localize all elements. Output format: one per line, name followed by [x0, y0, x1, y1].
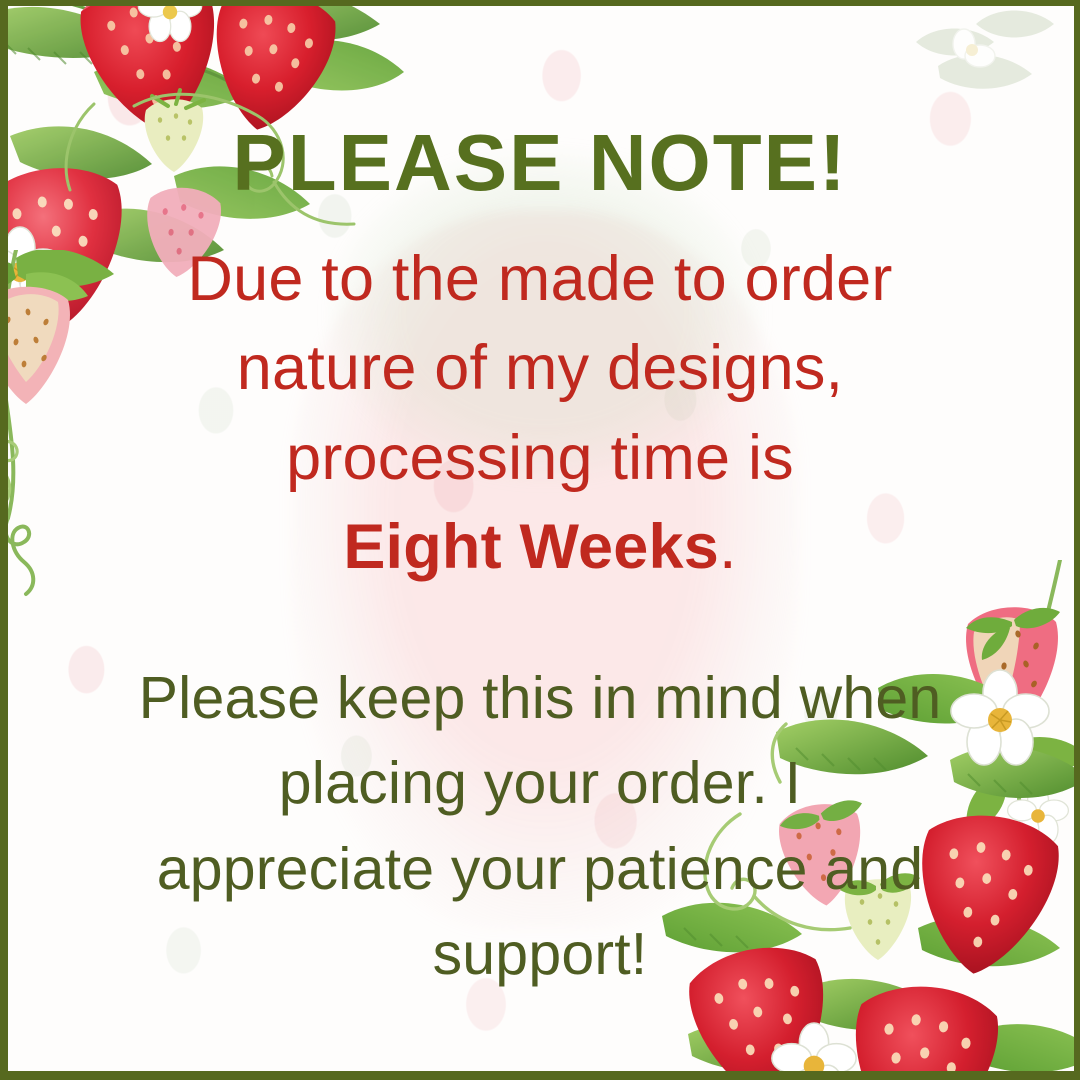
closing-line-4: support!	[40, 912, 1040, 998]
message-content: PLEASE NOTE! Due to the made to order na…	[0, 0, 1080, 1080]
closing-line-1: Please keep this in mind when	[40, 656, 1040, 742]
border-right	[1074, 0, 1080, 1080]
notice-period: .	[719, 512, 737, 582]
page-title: PLEASE NOTE!	[232, 123, 847, 203]
closing-text: Please keep this in mind when placing yo…	[40, 656, 1040, 998]
announcement-card: PLEASE NOTE! Due to the made to order na…	[0, 0, 1080, 1080]
border-bottom	[0, 1071, 1080, 1080]
closing-line-2: placing your order. I	[40, 741, 1040, 827]
border-top	[0, 0, 1080, 6]
processing-duration: Eight Weeks	[343, 512, 719, 582]
notice-emphasis-line: Eight Weeks.	[60, 503, 1020, 592]
border-left	[0, 0, 8, 1080]
notice-line-1: Due to the made to order	[60, 235, 1020, 324]
notice-line-2: nature of my designs,	[60, 324, 1020, 413]
closing-line-3: appreciate your patience and	[40, 827, 1040, 913]
notice-line-3: processing time is	[60, 414, 1020, 503]
notice-text: Due to the made to order nature of my de…	[60, 235, 1020, 593]
